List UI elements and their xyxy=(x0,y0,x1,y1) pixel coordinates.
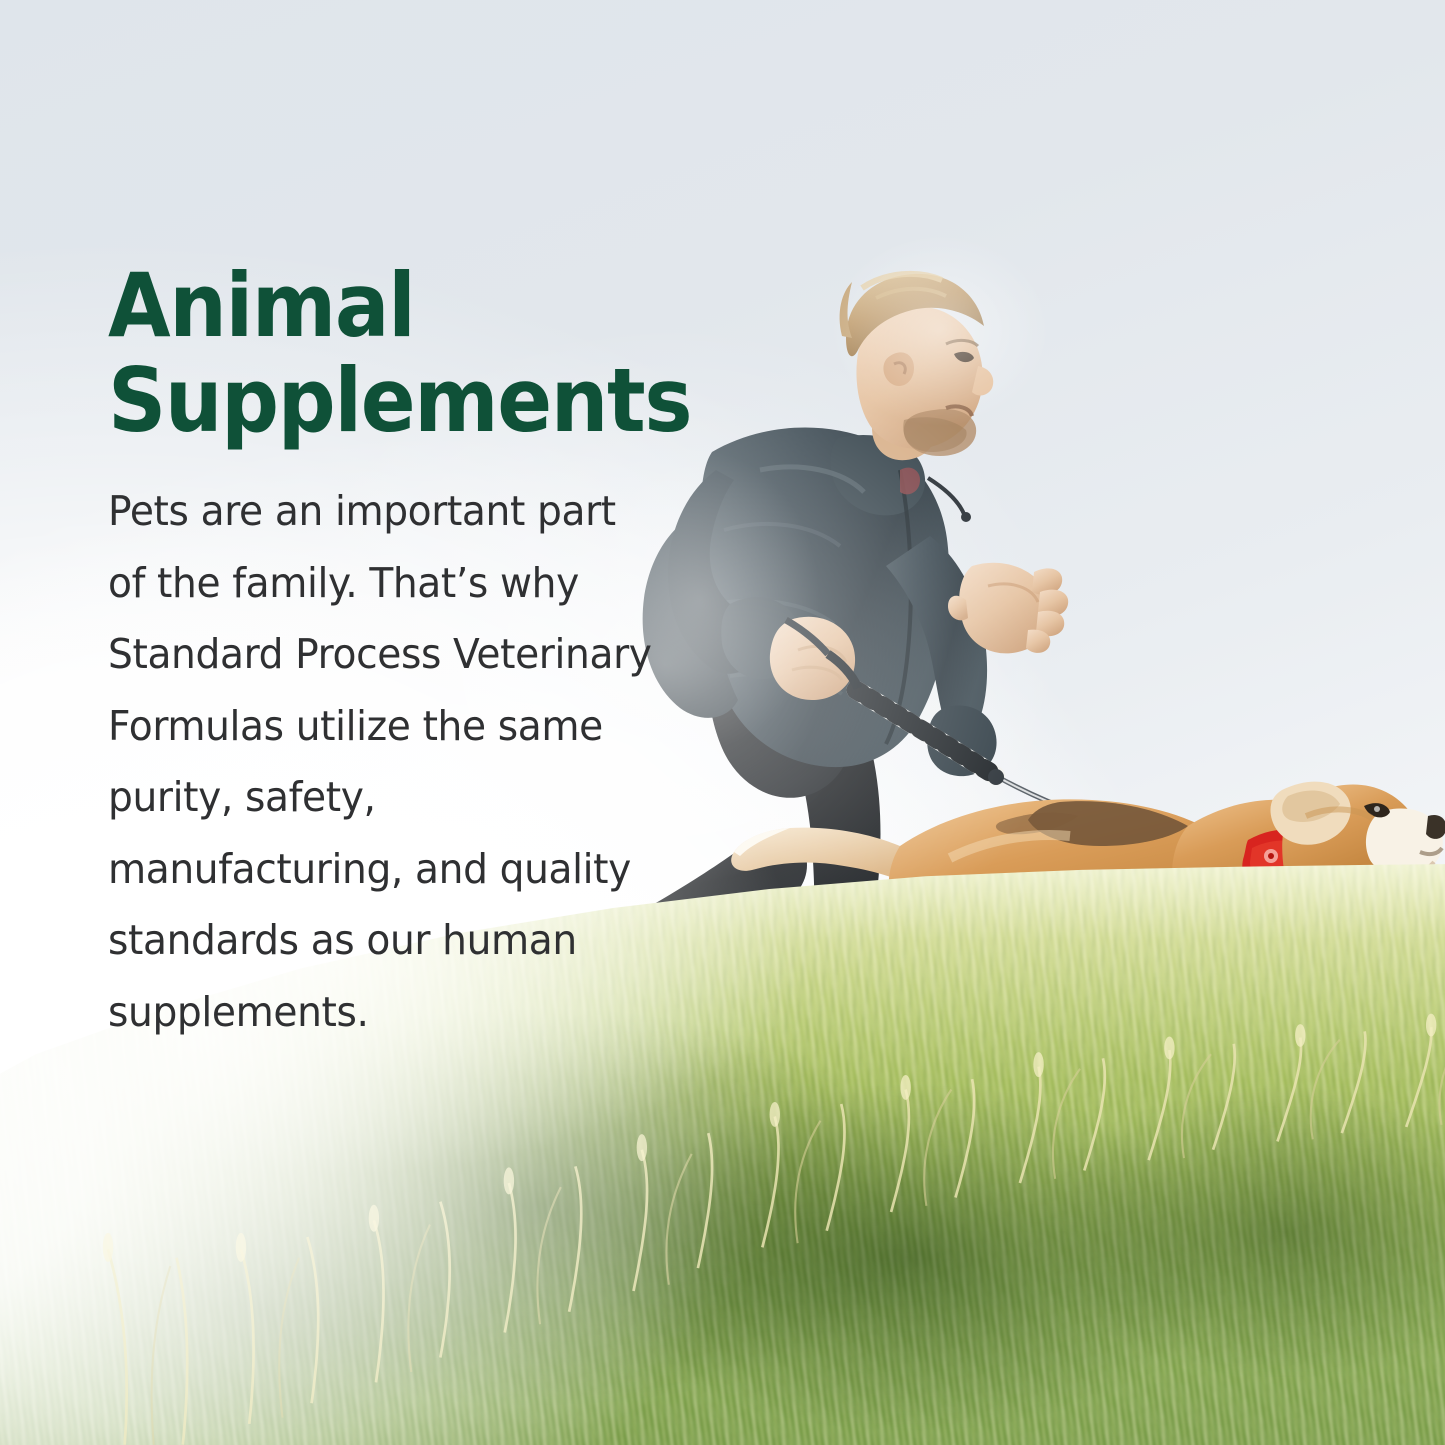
headline-line-2: Supplements xyxy=(108,349,691,452)
headline-line-1: Animal xyxy=(108,254,415,357)
body-paragraph: Pets are an important part of the family… xyxy=(108,448,652,1048)
text-column: AnimalSupplements Pets are an important … xyxy=(108,258,688,1048)
product-detail-image: AnimalSupplements Pets are an important … xyxy=(0,0,1445,1445)
dog-tail xyxy=(731,828,904,882)
page-title: AnimalSupplements xyxy=(108,258,642,448)
